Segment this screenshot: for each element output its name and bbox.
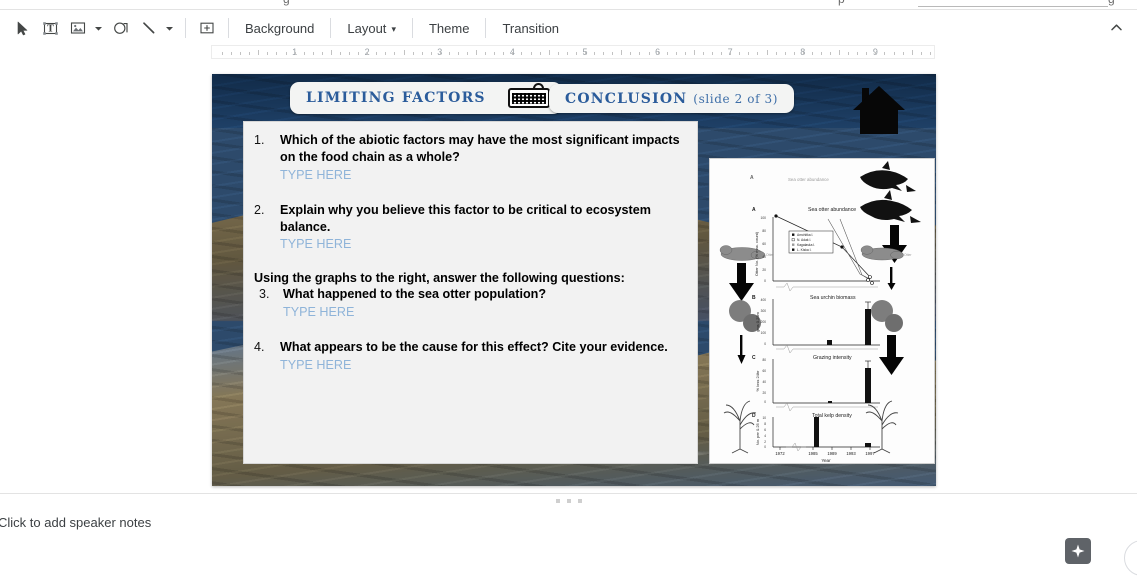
svg-text:Year: Year — [821, 458, 831, 463]
svg-text:Amchitka I.: Amchitka I. — [797, 233, 813, 237]
svg-text:40: 40 — [762, 380, 766, 384]
ruler-tick — [585, 52, 586, 55]
ruler-tick — [866, 52, 867, 55]
svg-text:% loss 24hr: % loss 24hr — [755, 370, 760, 392]
theme-label: Theme — [429, 21, 469, 36]
ruler-tick — [921, 52, 922, 55]
ruler-tick — [594, 52, 595, 55]
theme-button[interactable]: Theme — [420, 15, 478, 41]
background-label: Background — [245, 21, 314, 36]
svg-text:1985: 1985 — [808, 451, 818, 456]
questions-textbox[interactable]: 1. Which of the abiotic factors may have… — [243, 121, 698, 464]
svg-text:4: 4 — [764, 434, 766, 438]
slide-title: LIMITING FACTORS — [306, 90, 486, 106]
layout-label: Layout — [347, 21, 386, 36]
ruler-tick — [776, 52, 777, 55]
home-icon[interactable] — [850, 82, 908, 138]
question-item[interactable]: 2. Explain why you believe this factor t… — [254, 202, 685, 254]
transition-button[interactable]: Transition — [493, 15, 568, 41]
ruler-tick — [258, 50, 259, 55]
layout-button[interactable]: Layout ▾ — [338, 15, 405, 41]
splitter-grip-icon[interactable] — [556, 499, 582, 503]
spacer — [254, 323, 685, 339]
svg-text:1997: 1997 — [865, 451, 875, 456]
svg-text:Otter No. (% max. count): Otter No. (% max. count) — [754, 231, 759, 276]
ruler-tick — [649, 52, 650, 55]
graphs-instruction-text: Using the graphs to the right, answer th… — [254, 271, 685, 285]
menubar-divider — [918, 6, 1108, 7]
ruler-tick — [812, 52, 813, 55]
ruler-tick — [458, 52, 459, 55]
explore-button[interactable] — [1065, 538, 1091, 564]
ruler-tick — [603, 52, 604, 55]
ruler-tick — [821, 52, 822, 55]
ruler-tick — [531, 52, 532, 55]
speaker-notes-placeholder[interactable]: Click to add speaker notes — [0, 515, 151, 530]
svg-text:0: 0 — [764, 400, 766, 404]
svg-text:Kagalaska I.: Kagalaska I. — [797, 243, 815, 247]
ruler-tick — [712, 52, 713, 55]
svg-text:C: C — [752, 355, 756, 361]
ruler-tick — [739, 52, 740, 55]
insert-image-caret-icon[interactable] — [92, 15, 105, 41]
title-pill-limiting-factors[interactable]: LIMITING FACTORS — [290, 82, 562, 114]
svg-text:0: 0 — [764, 279, 766, 283]
ruler-tick — [440, 52, 441, 55]
svg-text:D: D — [752, 413, 756, 419]
ruler-tick — [884, 52, 885, 55]
question-text: What happened to the sea otter populatio… — [283, 286, 685, 303]
question-text: Which of the abiotic factors may have th… — [280, 132, 685, 166]
ruler-tick — [830, 52, 831, 55]
ruler-tick — [694, 50, 695, 55]
slides-editor-window: g p g T — [0, 0, 1137, 570]
layout-caret-icon: ▾ — [391, 24, 396, 35]
speaker-notes-pane[interactable]: Click to add speaker notes — [0, 507, 1137, 570]
ruler-tick — [930, 52, 931, 55]
svg-text:No. per 0.25 m: No. per 0.25 m — [755, 418, 760, 445]
svg-text:Sea urchin biomass: Sea urchin biomass — [810, 295, 856, 301]
horizontal-ruler[interactable]: 123456789 — [211, 45, 935, 59]
ruler-tick — [304, 52, 305, 55]
line-button[interactable] — [136, 15, 162, 41]
ruler-tick — [903, 52, 904, 55]
ruler-tick — [721, 52, 722, 55]
svg-text:80: 80 — [762, 229, 766, 233]
svg-text:20: 20 — [762, 391, 766, 395]
question-number: 3. — [254, 286, 283, 321]
ruler-tick — [449, 52, 450, 55]
question-item[interactable]: 1. Which of the abiotic factors may have… — [254, 132, 685, 184]
ruler-tick — [875, 52, 876, 55]
slide-canvas: LIMITING FACTORS CONCLUSION (slide 2 of … — [0, 61, 1137, 493]
ruler-tick — [422, 52, 423, 55]
conclusion-subtitle: (slide 2 of 3) — [693, 92, 778, 106]
insert-image-button[interactable] — [65, 15, 91, 41]
transition-label: Transition — [502, 21, 559, 36]
svg-text:Sea otter abundance: Sea otter abundance — [788, 177, 829, 182]
ruler-tick — [521, 52, 522, 55]
ruler-bar: 123456789 — [0, 45, 1137, 61]
svg-text:2: 2 — [764, 440, 766, 444]
ruler-tick — [576, 52, 577, 55]
ruler-tick — [431, 52, 432, 55]
ruler-tick — [757, 52, 758, 55]
ruler-tick — [894, 52, 895, 55]
ruler-tick — [249, 52, 250, 55]
ruler-tick — [848, 52, 849, 55]
ruler-tick — [340, 52, 341, 55]
ruler-tick — [912, 50, 913, 55]
ruler-tick — [785, 52, 786, 55]
ruler-tick — [240, 52, 241, 55]
answer-placeholder[interactable]: TYPE HERE — [280, 357, 685, 374]
svg-text:1989: 1989 — [827, 451, 837, 456]
conclusion-title: CONCLUSION — [565, 91, 693, 107]
svg-text:N. Adak I.: N. Adak I. — [797, 238, 811, 242]
svg-text:Grazing intensity: Grazing intensity — [813, 355, 852, 361]
ruler-tick — [385, 52, 386, 55]
svg-text:T: T — [47, 24, 54, 34]
ruler-tick — [322, 52, 323, 55]
question-text: What appears to be the cause for this ef… — [280, 339, 685, 356]
ruler-tick — [558, 52, 559, 55]
svg-text:200: 200 — [761, 320, 767, 324]
svg-text:gms 0.25m: gms 0.25m — [755, 311, 760, 331]
ruler-tick — [621, 50, 622, 55]
svg-text:1993: 1993 — [846, 451, 856, 456]
svg-text:Otter: Otter — [904, 253, 912, 257]
ruler-tick — [857, 52, 858, 55]
ruler-tick — [630, 52, 631, 55]
ruler-tick — [839, 50, 840, 55]
toolbar-divider-1 — [185, 18, 186, 38]
svg-text:60: 60 — [762, 242, 766, 246]
svg-text:100: 100 — [760, 216, 766, 220]
ruler-tick — [376, 52, 377, 55]
question-item[interactable]: 3. What happened to the sea otter popula… — [254, 286, 685, 321]
menubar-ghost-text-1: g — [283, 0, 290, 6]
svg-text:6: 6 — [764, 428, 766, 432]
collapse-menus-button[interactable] — [1103, 14, 1129, 40]
ruler-tick — [767, 50, 768, 55]
toolbar-divider-2 — [228, 18, 229, 38]
ruler-tick — [540, 52, 541, 55]
ruler-tick — [331, 50, 332, 55]
question-number: 1. — [254, 132, 280, 184]
ruler-tick — [313, 52, 314, 55]
trophic-cascade-figure[interactable]: Sea otter abundance A — [709, 158, 935, 464]
svg-text:20: 20 — [762, 268, 766, 272]
svg-text:40: 40 — [762, 255, 766, 259]
toolbar-divider-4 — [412, 18, 413, 38]
ruler-tick — [612, 52, 613, 55]
ruler-tick — [467, 52, 468, 55]
text-box-button[interactable]: T — [37, 15, 63, 41]
ruler-tick — [267, 52, 268, 55]
svg-text:60: 60 — [762, 369, 766, 373]
ruler-tick — [676, 52, 677, 55]
toolbar-divider-5 — [485, 18, 486, 38]
question-item[interactable]: 4. What appears to be the cause for this… — [254, 339, 685, 374]
answer-placeholder[interactable]: TYPE HERE — [283, 304, 685, 321]
ruler-tick — [730, 52, 731, 55]
spacer — [254, 255, 685, 271]
svg-text:100: 100 — [761, 331, 767, 335]
title-pill-conclusion[interactable]: CONCLUSION (slide 2 of 3) — [549, 84, 794, 113]
ruler-tick — [286, 52, 287, 55]
ruler-tick — [358, 52, 359, 55]
ruler-tick — [349, 52, 350, 55]
slide-editing-surface[interactable]: LIMITING FACTORS CONCLUSION (slide 2 of … — [212, 74, 936, 486]
spacer — [254, 186, 685, 202]
svg-text:0: 0 — [764, 342, 766, 346]
ruler-tick — [748, 52, 749, 55]
svg-text:10: 10 — [762, 416, 766, 420]
answer-placeholder[interactable]: TYPE HERE — [280, 236, 685, 253]
ruler-tick — [503, 52, 504, 55]
menubar-ghost-text-2: p — [838, 0, 845, 6]
toolbar: T — [0, 9, 1137, 47]
ruler-tick — [222, 52, 223, 55]
svg-text:Sea otter abundance: Sea otter abundance — [808, 207, 856, 213]
menubar-remnant: g p g — [0, 0, 1137, 9]
svg-text:8: 8 — [764, 422, 766, 426]
svg-text:L. Kiska I.: L. Kiska I. — [797, 248, 812, 252]
line-caret-icon[interactable] — [163, 15, 176, 41]
ruler-tick — [803, 52, 804, 55]
menubar-ghost-text-3: g — [1108, 0, 1115, 6]
answer-placeholder[interactable]: TYPE HERE — [280, 167, 685, 184]
ruler-tick — [231, 52, 232, 55]
svg-text:400: 400 — [761, 298, 767, 302]
svg-text:A: A — [750, 175, 754, 181]
ruler-tick — [295, 52, 296, 55]
question-number: 2. — [254, 202, 280, 254]
new-slide-button[interactable] — [194, 15, 220, 41]
ruler-tick — [685, 52, 686, 55]
svg-text:A: A — [752, 207, 756, 213]
ruler-tick — [658, 52, 659, 55]
ruler-tick — [476, 50, 477, 55]
ruler-tick — [413, 52, 414, 55]
ruler-tick — [667, 52, 668, 55]
select-tool-button[interactable] — [9, 15, 35, 41]
ruler-tick — [494, 52, 495, 55]
ruler-tick — [394, 52, 395, 55]
svg-text:1972: 1972 — [775, 451, 785, 456]
svg-text:0: 0 — [764, 445, 766, 449]
ruler-tick — [485, 52, 486, 55]
background-button[interactable]: Background — [236, 15, 323, 41]
svg-text:80: 80 — [762, 358, 766, 362]
ruler-tick — [703, 52, 704, 55]
svg-text:B: B — [752, 295, 756, 301]
ruler-tick — [567, 52, 568, 55]
ruler-tick — [794, 52, 795, 55]
question-text: Explain why you believe this factor to b… — [280, 202, 685, 236]
question-number: 4. — [254, 339, 280, 374]
ruler-tick — [404, 50, 405, 55]
toolbar-divider-3 — [330, 18, 331, 38]
ruler-tick — [512, 52, 513, 55]
svg-text:300: 300 — [761, 309, 767, 313]
keyboard-icon — [508, 88, 550, 108]
ruler-tick — [276, 52, 277, 55]
ruler-tick — [367, 52, 368, 55]
shape-button[interactable] — [108, 15, 134, 41]
ruler-tick — [639, 52, 640, 55]
ruler-tick — [549, 50, 550, 55]
